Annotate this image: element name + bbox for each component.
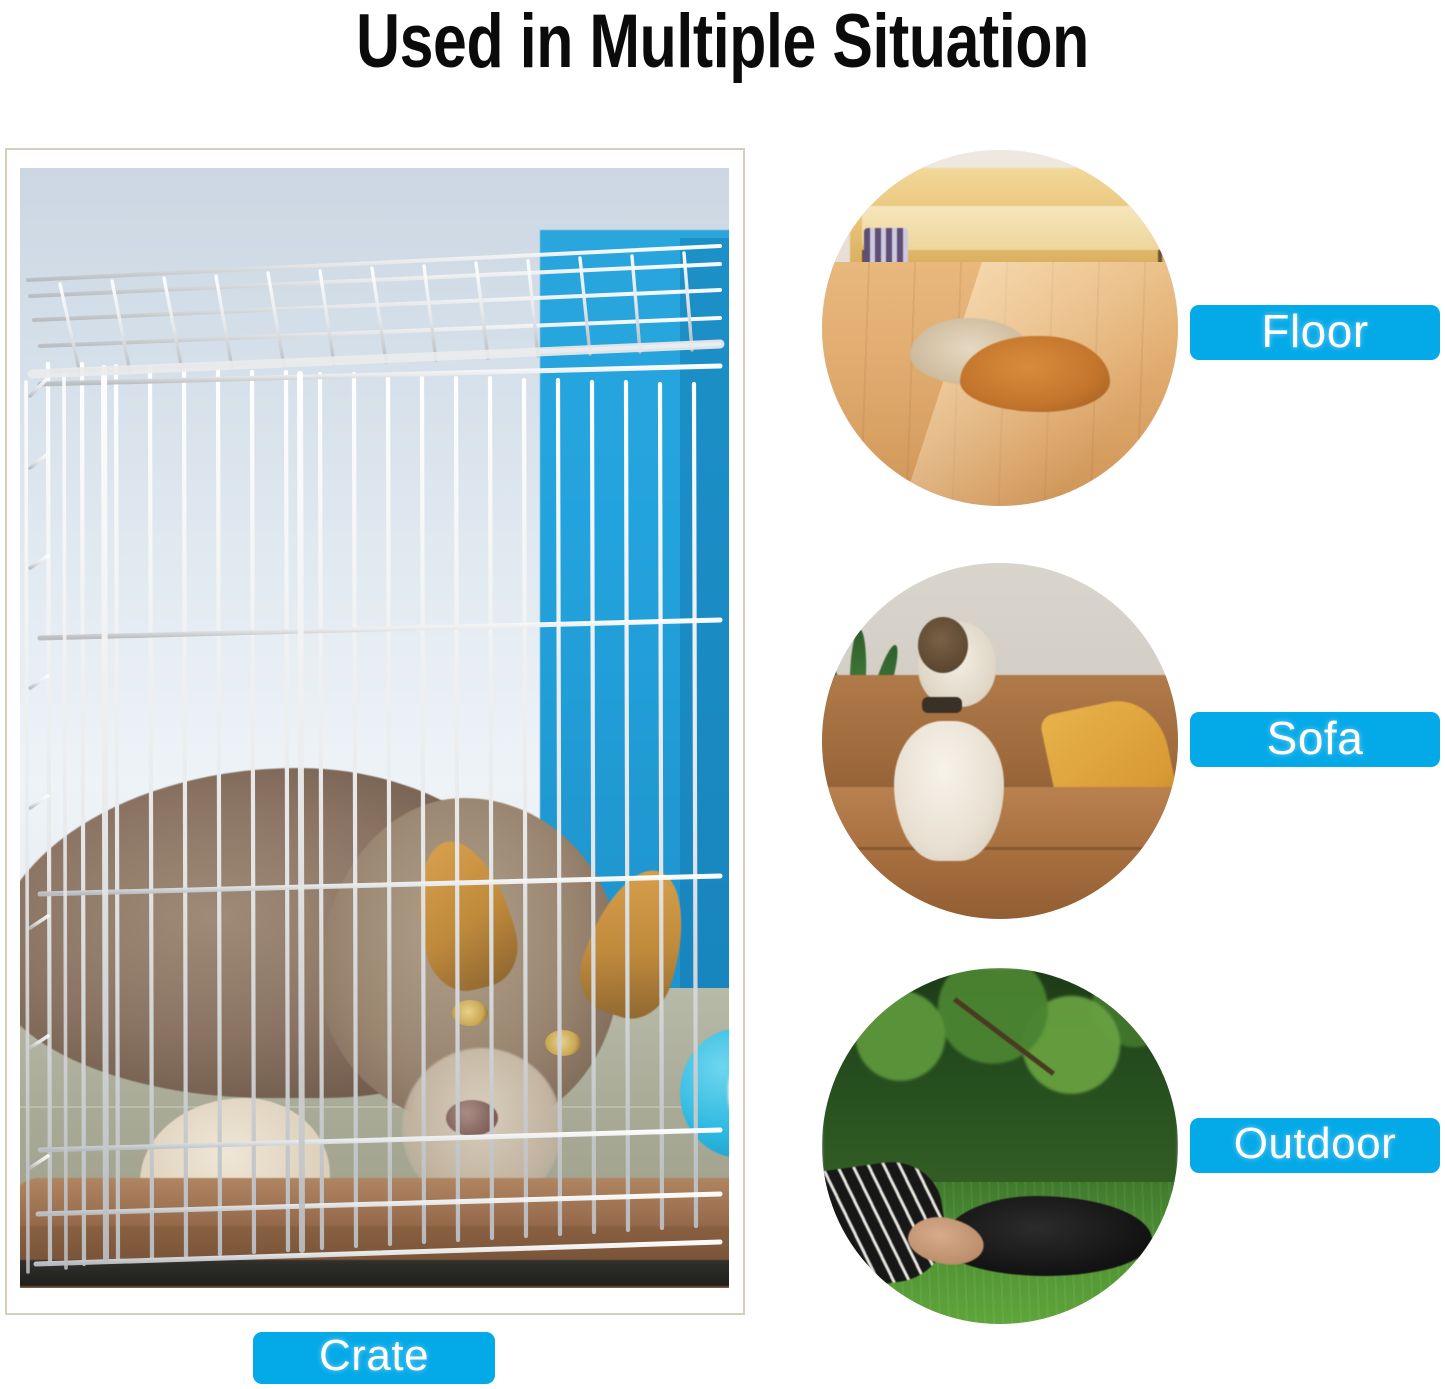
floor-scene-sofa-cushions	[862, 206, 1172, 250]
dog-eye-right	[545, 1030, 581, 1056]
label-crate: Crate	[253, 1332, 495, 1384]
sofa-scene-dog-body	[894, 721, 1004, 861]
crate-photo-frame	[5, 148, 745, 1315]
crate-photo	[20, 168, 729, 1288]
crate-tray	[20, 1260, 729, 1286]
label-sofa: Sofa	[1190, 712, 1440, 767]
label-floor: Floor	[1190, 305, 1440, 360]
dog-eye-left	[452, 1000, 488, 1026]
blue-backdrop-panel-edge	[680, 238, 729, 1028]
situation-image-sofa	[822, 563, 1178, 919]
dog-nose	[446, 1100, 498, 1136]
situation-image-outdoor	[822, 968, 1178, 1324]
page-title: Used in Multiple Situation	[145, 0, 1301, 90]
label-outdoor: Outdoor	[1190, 1118, 1440, 1173]
sofa-scene-dog-topknot	[918, 617, 968, 673]
situation-image-floor	[822, 150, 1178, 506]
outdoor-scene-trees	[822, 968, 1178, 1194]
sofa-scene-dog-collar	[922, 697, 962, 713]
